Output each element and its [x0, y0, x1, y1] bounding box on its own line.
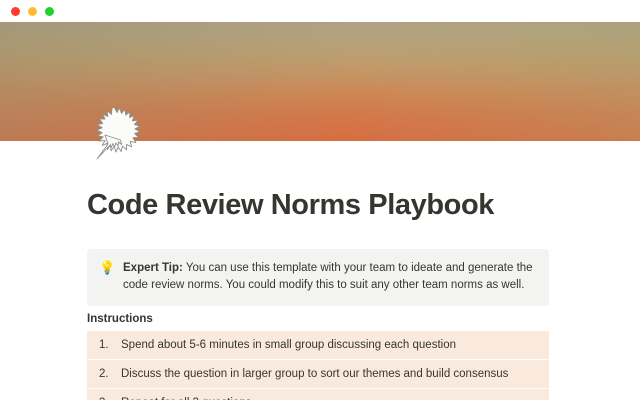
list-item-number: 2.: [99, 366, 121, 382]
app-window: Code Review Norms Playbook 💡 Expert Tip:…: [0, 0, 640, 400]
list-item[interactable]: 3. Repeat for all 3 questions: [87, 389, 549, 400]
minimize-button-icon[interactable]: [28, 7, 37, 16]
callout-label: Expert Tip:: [123, 262, 183, 274]
list-item-number: 1.: [99, 337, 121, 353]
lightbulb-icon: 💡: [99, 260, 114, 276]
list-item[interactable]: 1. Spend about 5-6 minutes in small grou…: [87, 331, 549, 360]
callout-body: You can use this template with your team…: [123, 262, 533, 291]
window-titlebar: [0, 0, 640, 22]
callout-text: Expert Tip: You can use this template wi…: [123, 260, 535, 294]
list-item-number: 3.: [99, 395, 121, 400]
list-item-text: Discuss the question in larger group to …: [121, 366, 539, 382]
list-item[interactable]: 2. Discuss the question in larger group …: [87, 360, 549, 389]
page-body: Code Review Norms Playbook 💡 Expert Tip:…: [0, 141, 640, 400]
maximize-button-icon[interactable]: [45, 7, 54, 16]
page-title[interactable]: Code Review Norms Playbook: [87, 188, 494, 222]
window-controls: [11, 7, 54, 16]
instructions-list: 1. Spend about 5-6 minutes in small grou…: [87, 331, 549, 400]
list-item-text: Repeat for all 3 questions: [121, 395, 539, 400]
instructions-heading: Instructions: [87, 311, 153, 327]
list-item-text: Spend about 5-6 minutes in small group d…: [121, 337, 539, 353]
close-button-icon[interactable]: [11, 7, 20, 16]
spiky-speech-bubble-icon[interactable]: [86, 105, 142, 161]
expert-tip-callout[interactable]: 💡 Expert Tip: You can use this template …: [87, 249, 549, 306]
